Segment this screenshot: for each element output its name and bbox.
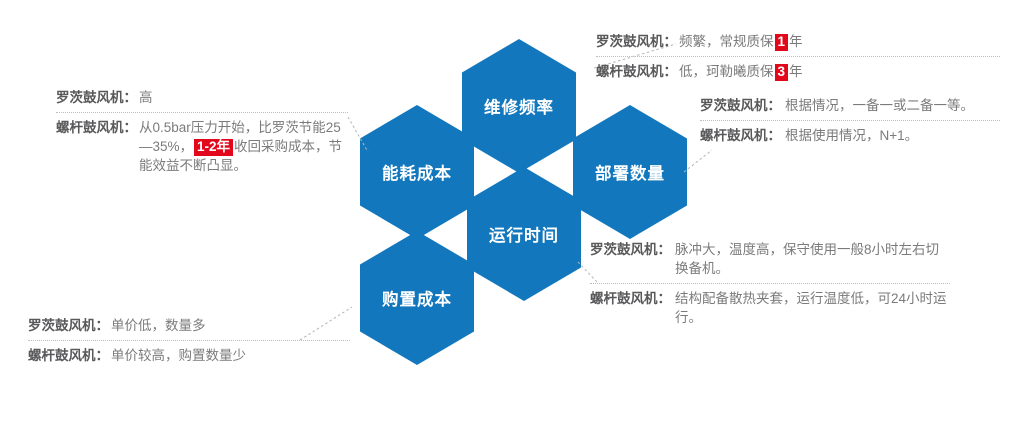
annotation-value-roots: 脉冲大，温度高，保守使用一般8小时左右切换备机。: [675, 240, 950, 278]
annotation-deployment-count: 罗茨鼓风机： 根据情况，一备一或二备一等。 螺杆鼓风机： 根据使用情况，N+1。: [700, 96, 1000, 145]
leader-line-deploy: [684, 150, 712, 172]
annotation-key-screw: 螺杆鼓风机：: [28, 346, 109, 365]
leader-line-energy: [348, 117, 368, 152]
hexagon-label-maintenance-frequency: 维修频率: [484, 94, 554, 118]
annotation-purchase-cost: 罗茨鼓风机： 单价低，数量多 螺杆鼓风机： 单价较高，购置数量少: [28, 316, 350, 365]
highlighted-value: 3: [775, 64, 789, 81]
annotation-row-roots: 罗茨鼓风机： 脉冲大，温度高，保守使用一般8小时左右切换备机。: [590, 240, 950, 283]
annotation-value-screw: 单价较高，购置数量少: [111, 346, 350, 365]
annotation-value-roots: 根据情况，一备一或二备一等。: [785, 96, 1000, 115]
annotation-key-roots: 罗茨鼓风机：: [590, 240, 671, 259]
text-run: 年: [789, 64, 803, 79]
hexagon-label-purchase-cost: 购置成本: [382, 286, 452, 310]
annotation-row-screw: 螺杆鼓风机： 低，珂勒曦质保3年: [596, 57, 1000, 81]
hexagon-label-deployment-count: 部署数量: [595, 160, 665, 184]
annotation-row-roots: 罗茨鼓风机： 单价低，数量多: [28, 316, 350, 340]
annotation-key-screw: 螺杆鼓风机：: [700, 126, 781, 145]
annotation-key-roots: 罗茨鼓风机：: [56, 88, 137, 107]
annotation-key-roots: 罗茨鼓风机：: [596, 32, 677, 51]
annotation-value-screw: 根据使用情况，N+1。: [785, 126, 1000, 145]
annotation-row-roots: 罗茨鼓风机： 频繁，常规质保1年: [596, 32, 1000, 56]
annotation-maintenance-frequency: 罗茨鼓风机： 频繁，常规质保1年 螺杆鼓风机： 低，珂勒曦质保3年: [596, 32, 1000, 81]
text-run: 年: [789, 34, 803, 49]
hexagon-label-energy-cost: 能耗成本: [382, 160, 452, 184]
annotation-row-screw: 螺杆鼓风机： 单价较高，购置数量少: [28, 341, 350, 365]
highlighted-value: 1-2年: [194, 139, 233, 156]
annotation-row-roots: 罗茨鼓风机： 根据情况，一备一或二备一等。: [700, 96, 1000, 120]
annotation-row-screw: 螺杆鼓风机： 结构配备散热夹套，运行温度低，可24小时运行。: [590, 284, 950, 327]
text-run: 频繁，常规质保: [679, 34, 774, 49]
annotation-row-roots: 罗茨鼓风机： 高: [56, 88, 348, 112]
highlighted-value: 1: [775, 34, 789, 51]
annotation-value-screw: 结构配备散热夹套，运行温度低，可24小时运行。: [675, 289, 950, 327]
annotation-key-roots: 罗茨鼓风机：: [700, 96, 781, 115]
annotation-key-screw: 螺杆鼓风机：: [56, 118, 137, 137]
annotation-key-screw: 螺杆鼓风机：: [596, 62, 677, 81]
annotation-value-roots: 单价低，数量多: [111, 316, 350, 335]
annotation-row-screw: 螺杆鼓风机： 从0.5bar压力开始，比罗茨节能25—35%，1-2年收回采购成…: [56, 113, 348, 175]
hexagon-label-runtime: 运行时间: [489, 222, 559, 246]
annotation-row-screw: 螺杆鼓风机： 根据使用情况，N+1。: [700, 121, 1000, 145]
annotation-energy-cost: 罗茨鼓风机： 高 螺杆鼓风机： 从0.5bar压力开始，比罗茨节能25—35%，…: [56, 88, 348, 176]
annotation-key-screw: 螺杆鼓风机：: [590, 289, 671, 308]
annotation-value-screw: 低，珂勒曦质保3年: [679, 62, 1000, 81]
text-run: 低，珂勒曦质保: [679, 64, 774, 79]
annotation-key-roots: 罗茨鼓风机：: [28, 316, 109, 335]
annotation-value-roots: 高: [139, 88, 348, 107]
annotation-value-roots: 频繁，常规质保1年: [679, 32, 1000, 51]
annotation-value-screw: 从0.5bar压力开始，比罗茨节能25—35%，1-2年收回采购成本，节能效益不…: [139, 118, 348, 175]
infographic-canvas: 维修频率 能耗成本 部署数量 运行时间 购置成本 罗茨鼓风机： 高 螺杆鼓风机：…: [0, 0, 1014, 436]
annotation-runtime: 罗茨鼓风机： 脉冲大，温度高，保守使用一般8小时左右切换备机。 螺杆鼓风机： 结…: [590, 240, 950, 328]
